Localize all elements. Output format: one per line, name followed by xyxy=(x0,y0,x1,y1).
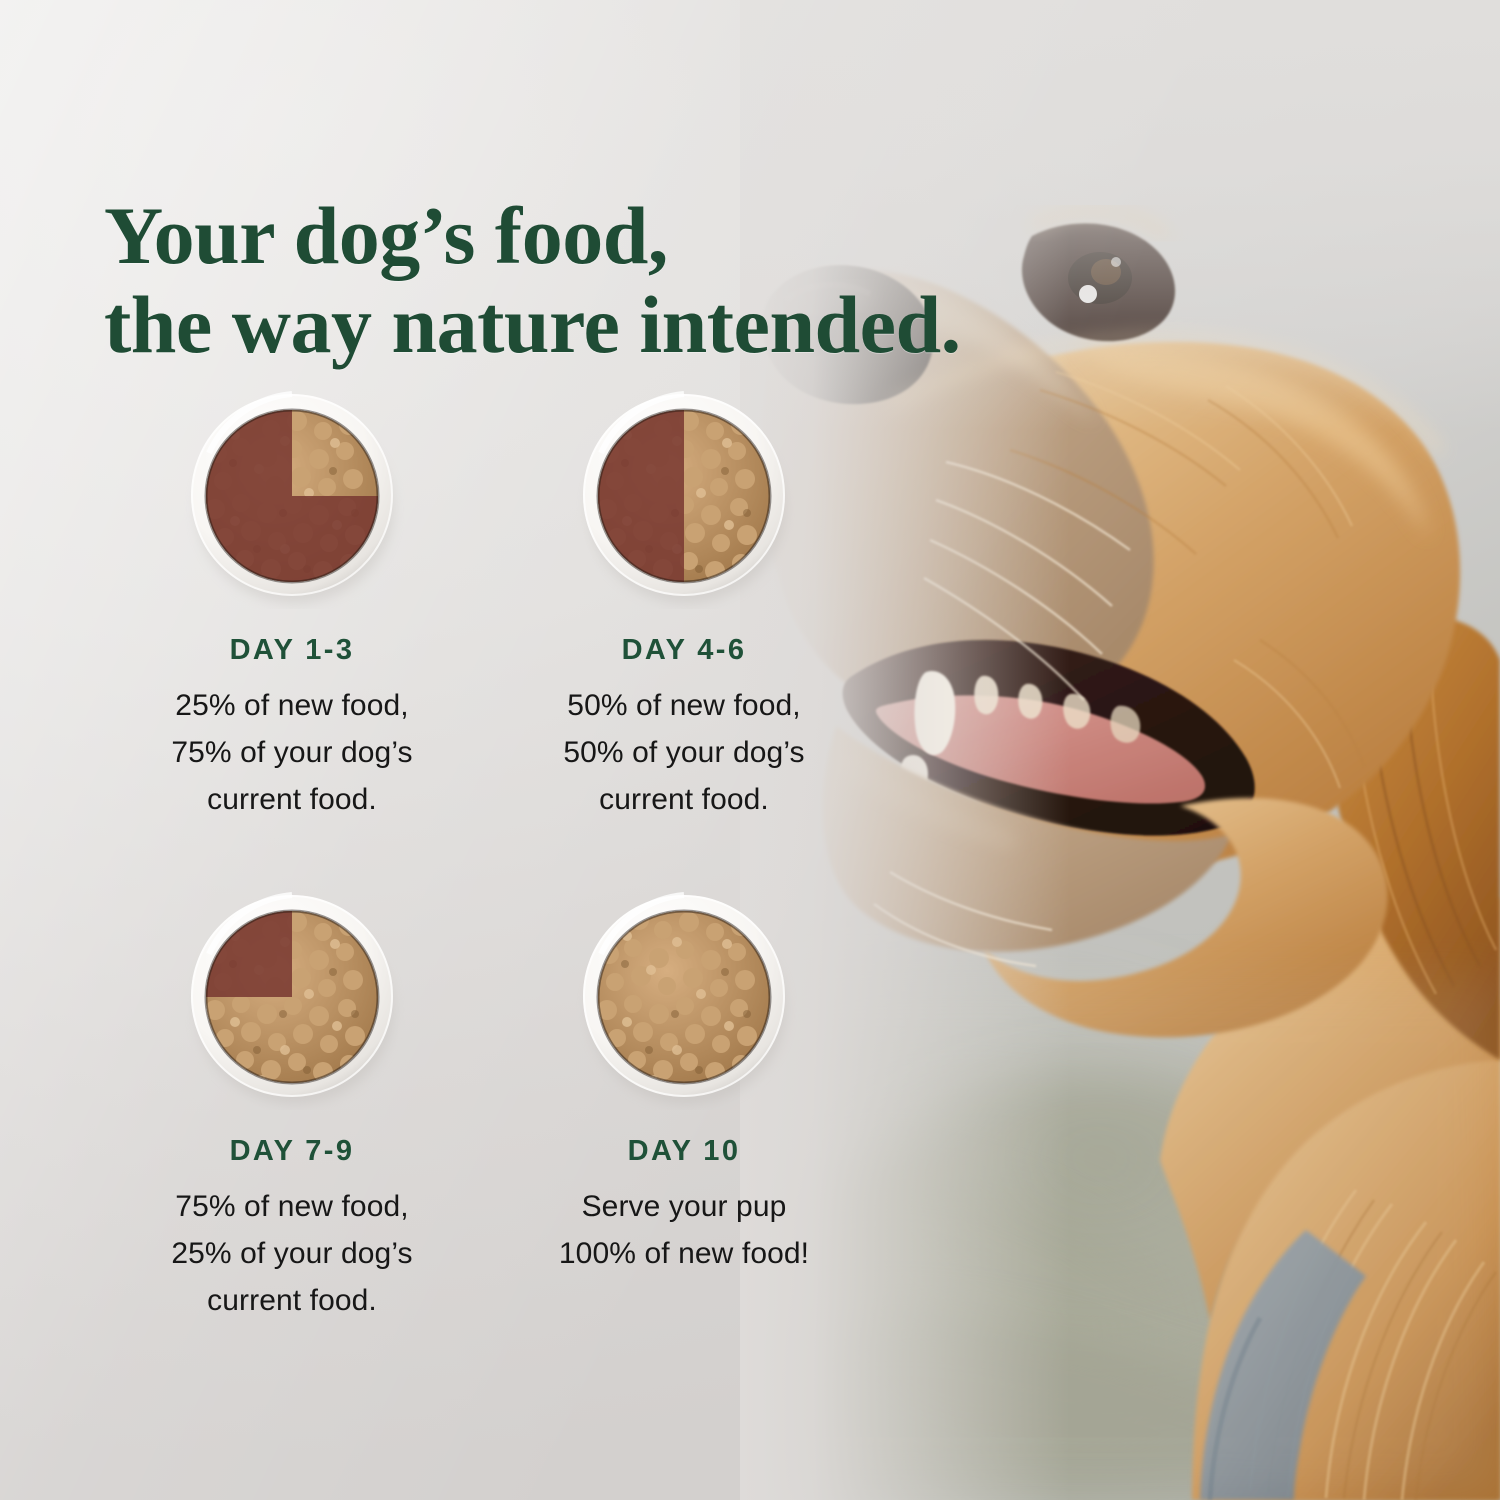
desc-line: 25% of your dog’s xyxy=(171,1231,412,1278)
day-label: DAY 4-6 xyxy=(622,634,747,667)
dog-bowl-icon xyxy=(569,879,799,1115)
day-label: DAY 10 xyxy=(628,1135,741,1168)
dog-bowl-icon xyxy=(569,378,799,614)
desc-line: current food. xyxy=(563,777,804,824)
step-description: 50% of new food, 50% of your dog’s curre… xyxy=(563,683,804,823)
page-title: Your dog’s food, the way nature intended… xyxy=(104,191,1174,370)
dog-bowl-icon xyxy=(177,378,407,614)
desc-line: 75% of your dog’s xyxy=(171,730,412,777)
page-title-line-2: the way nature intended. xyxy=(104,280,1174,369)
desc-line: current food. xyxy=(171,777,412,824)
steps-row-2: DAY 7-9 75% of new food, 25% of your dog… xyxy=(96,879,886,1324)
day-label: DAY 7-9 xyxy=(230,1135,355,1168)
day-label: DAY 1-3 xyxy=(230,634,355,667)
desc-line: 75% of new food, xyxy=(171,1184,412,1231)
desc-line: current food. xyxy=(171,1278,412,1325)
step-day-7-9: DAY 7-9 75% of new food, 25% of your dog… xyxy=(96,879,488,1324)
desc-line: 100% of new food! xyxy=(559,1231,809,1278)
step-day-10: DAY 10 Serve your pup 100% of new food! xyxy=(488,879,880,1324)
transition-guide-graphic: Your dog’s food, the way nature intended… xyxy=(0,0,1500,1500)
step-day-4-6: DAY 4-6 50% of new food, 50% of your dog… xyxy=(488,378,880,823)
desc-line: Serve your pup xyxy=(559,1184,809,1231)
desc-line: 50% of new food, xyxy=(563,683,804,730)
step-description: 75% of new food, 25% of your dog’s curre… xyxy=(171,1184,412,1324)
dog-bowl-icon xyxy=(177,879,407,1115)
step-description: Serve your pup 100% of new food! xyxy=(559,1184,809,1278)
step-day-1-3: DAY 1-3 25% of new food, 75% of your dog… xyxy=(96,378,488,823)
steps-row-1: DAY 1-3 25% of new food, 75% of your dog… xyxy=(96,378,886,823)
step-description: 25% of new food, 75% of your dog’s curre… xyxy=(171,683,412,823)
desc-line: 50% of your dog’s xyxy=(563,730,804,777)
desc-line: 25% of new food, xyxy=(171,683,412,730)
page-title-line-1: Your dog’s food, xyxy=(104,190,668,281)
old-food-overlay xyxy=(591,403,684,589)
transition-steps-grid: DAY 1-3 25% of new food, 75% of your dog… xyxy=(96,378,886,1325)
